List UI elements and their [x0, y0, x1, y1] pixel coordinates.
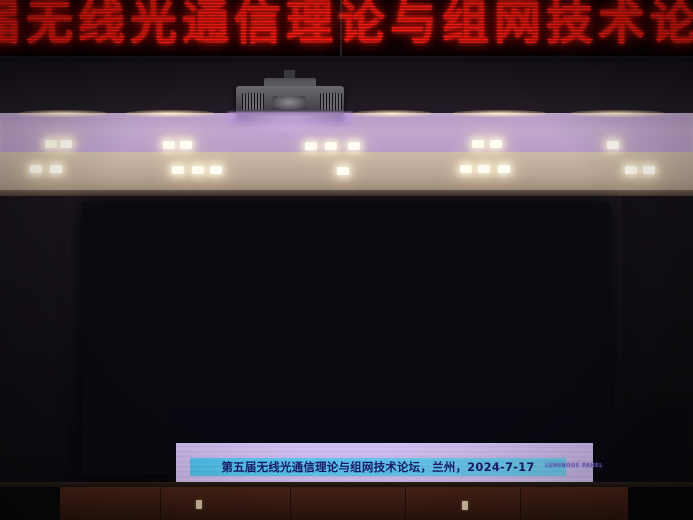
projector-beam: [222, 114, 358, 140]
led-banner-text: 届无线光通信理论与组网技术论坛: [0, 0, 693, 52]
ceiling-downlight-icon: [478, 165, 490, 173]
ceiling-downlight-icon: [348, 142, 360, 150]
wood-seam: [520, 487, 521, 520]
ceiling-glow: [125, 110, 215, 117]
ceiling-glow: [570, 110, 665, 117]
ceiling-glow: [452, 110, 547, 117]
wood-seam: [160, 487, 161, 520]
ceiling-downlight-icon: [172, 166, 184, 174]
ceiling-downlight-icon: [607, 141, 619, 149]
wood-paneling: [60, 487, 628, 520]
ceiling-glow: [18, 110, 108, 117]
ceiling-downlight-icon: [163, 141, 175, 149]
ceiling-downlight-icon: [643, 166, 655, 174]
ceiling-downlight-icon: [305, 142, 317, 150]
ceiling-dark-band: [0, 62, 693, 116]
ceiling-downlight-icon: [180, 141, 192, 149]
wall-marker: [462, 501, 468, 510]
floor-left: [0, 487, 61, 520]
floor-right: [627, 487, 693, 520]
slide-header-text: 第五届无线光通信理论与组网技术论坛，兰州，2024-7-17: [221, 459, 534, 475]
led-panel-seam: [340, 0, 342, 62]
projector-lens: [272, 96, 306, 110]
ceiling-downlight-icon: [337, 167, 349, 175]
ceiling-downlight-icon: [325, 142, 337, 150]
led-banner: 届无线光通信理论与组网技术论坛: [0, 0, 693, 62]
ceiling-downlight-icon: [60, 140, 72, 148]
wall-marker: [196, 500, 202, 509]
projection-screen-bezel: 第五届无线光通信理论与组网技术论坛，兰州，2024-7-17 基于激光致声效应 …: [82, 203, 610, 475]
ceiling-downlight-icon: [472, 140, 484, 148]
projector-vent-left: [242, 93, 264, 110]
ceiling-downlight-icon: [50, 165, 62, 173]
ceiling-downlight-icon: [210, 166, 222, 174]
ceiling-downlight-icon: [460, 165, 472, 173]
conference-room-photo: 届无线光通信理论与组网技术论坛: [0, 0, 693, 520]
projector-vent-right: [320, 93, 342, 110]
slide-header-band: 第五届无线光通信理论与组网技术论坛，兰州，2024-7-17: [190, 458, 566, 476]
ceiling-downlight-icon: [490, 140, 502, 148]
wood-seam: [290, 487, 291, 520]
ceiling-downlight-icon: [30, 165, 42, 173]
wood-seam: [405, 487, 406, 520]
ceiling-glow: [352, 110, 432, 117]
ceiling-downlight-icon: [498, 165, 510, 173]
screen-brand-logo: LUMINOUS PANEL: [545, 463, 603, 469]
ceiling-downlight-icon: [45, 140, 57, 148]
ceiling-downlight-icon: [192, 166, 204, 174]
ceiling-downlight-icon: [625, 166, 637, 174]
